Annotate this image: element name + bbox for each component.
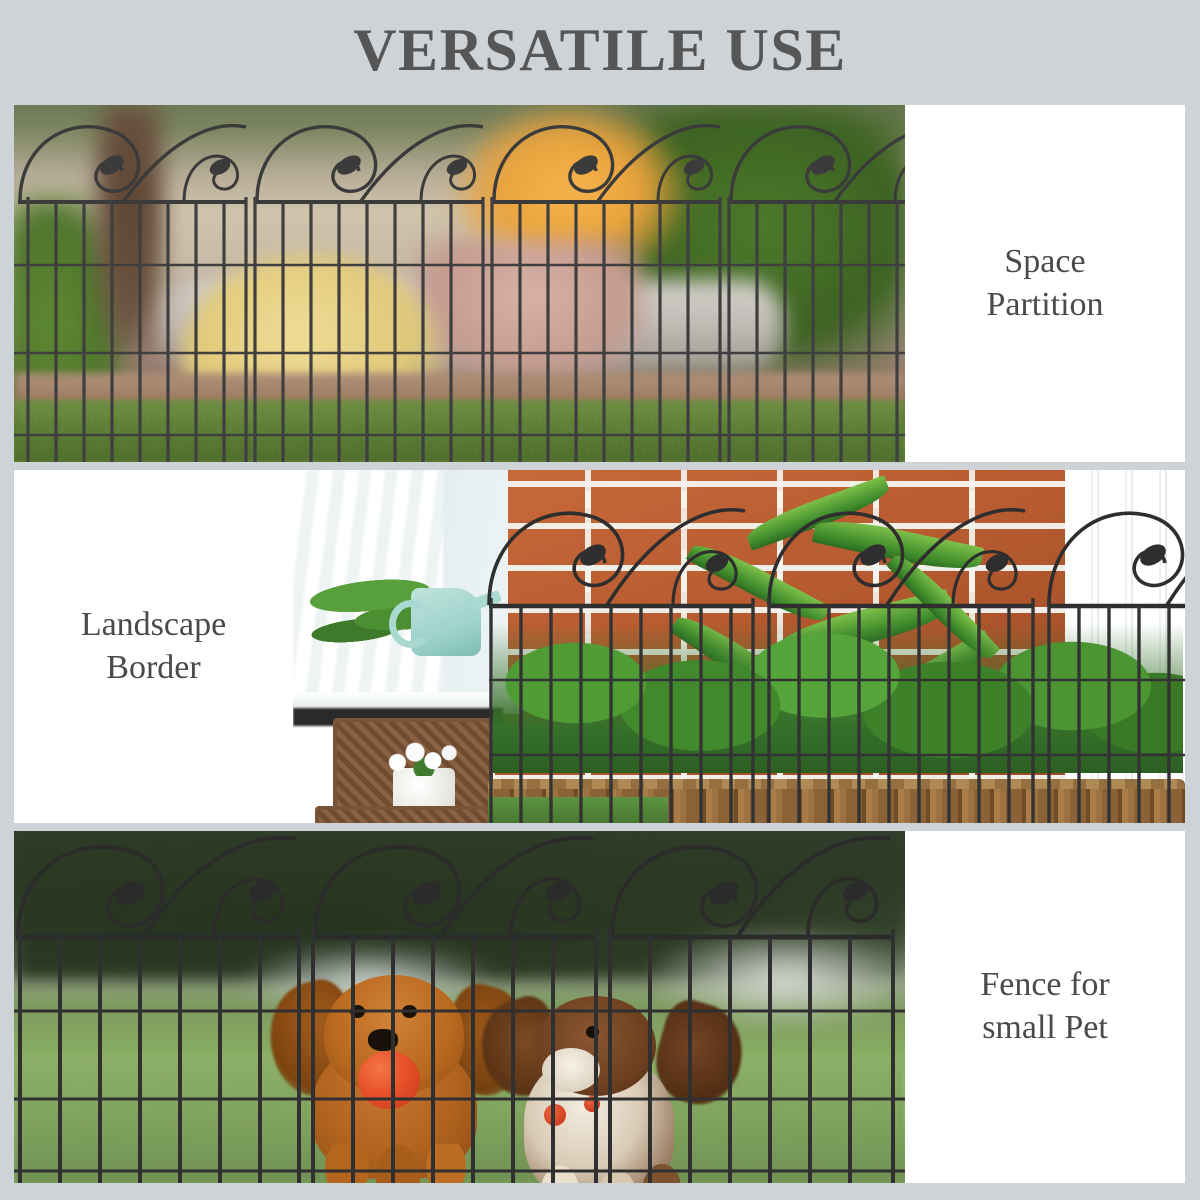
caption-space-partition: Space Partition [974,241,1115,327]
caption-fence-for-small-pet: Fence for small Pet [968,964,1121,1050]
decorative-fence-overlay [14,831,905,1183]
caption-panel-space-partition: Space Partition [905,105,1185,462]
decorative-fence-overlay [293,470,1185,823]
versatile-use-page: VERSATILE USE [0,0,1200,1200]
feature-row-space-partition: Space Partition [14,105,1185,462]
caption-panel-fence-for-small-pet: Fence for small Pet [905,831,1185,1183]
photo-space-partition [14,105,905,462]
page-title: VERSATILE USE [353,20,847,86]
caption-panel-landscape-border: Landscape Border [14,470,293,823]
decorative-fence-overlay [14,105,905,462]
page-header: VERSATILE USE [0,0,1200,105]
feature-row-fence-for-small-pet: Fence for small Pet [14,831,1185,1183]
feature-row-landscape-border: Landscape Border [14,470,1185,823]
photo-landscape-border [293,470,1185,823]
caption-landscape-border: Landscape Border [69,604,238,690]
photo-fence-for-small-pet [14,831,905,1183]
